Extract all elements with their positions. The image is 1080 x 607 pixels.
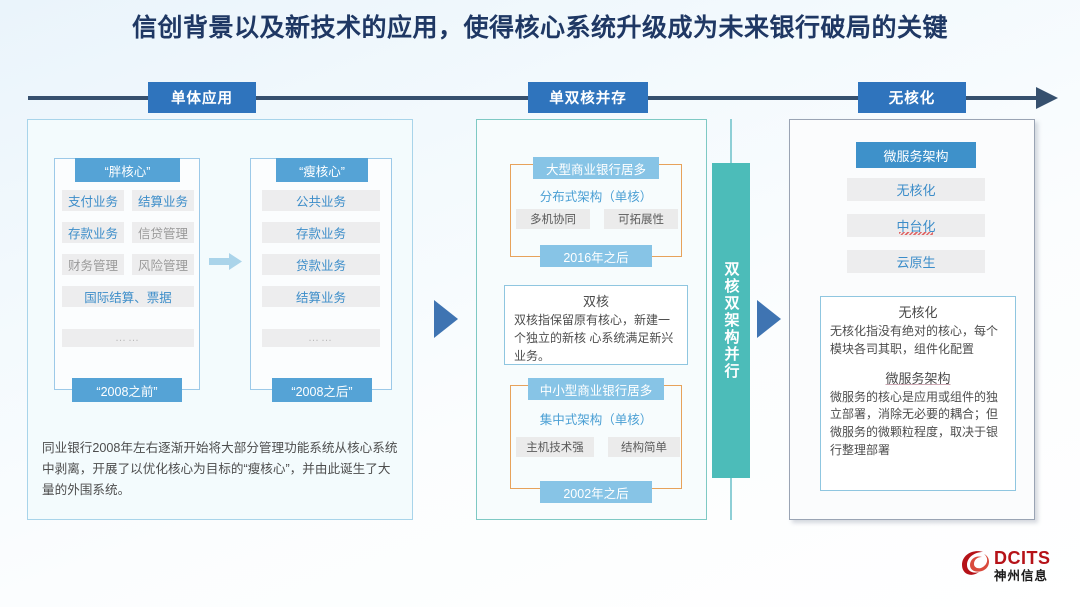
fat-core-cell: 财务管理 xyxy=(62,254,124,275)
dcits-logo-cn: 神州信息 xyxy=(994,570,1051,583)
page-title: 信创背景以及新技术的应用，使得核心系统升级成为未来银行破局的关键 xyxy=(0,8,1080,44)
small-bank-subtitle: 集中式架构（单核） xyxy=(510,409,682,428)
large-bank-header: 大型商业银行居多 xyxy=(533,157,659,179)
dual-core-description-text: 双核指保留原有核心，新建一个独立的新核 心系统满足新兴业务。 xyxy=(514,312,678,365)
coreless-description-text-2: 微服务的核心是应用或组件的独立部署，消除无必要的耦合；但微服务的微颗粒程度，取决… xyxy=(830,389,1006,460)
large-bank-subtitle: 分布式架构（单核） xyxy=(510,186,682,205)
timeline-stage-2[interactable]: 单双核并存 xyxy=(528,82,648,113)
fat-core-cell: 结算业务 xyxy=(132,190,194,211)
microservice-header-chip: 微服务架构 xyxy=(856,142,976,168)
thin-core-cell: 存款业务 xyxy=(262,222,380,243)
teal-bar-stem-top xyxy=(730,119,732,163)
small-bank-header: 中小型商业银行居多 xyxy=(528,378,664,400)
thin-core-ellipsis: …… xyxy=(262,329,380,347)
coreless-description-text-1: 无核化指没有绝对的核心，每个模块各司其职，组件化配置 xyxy=(830,323,1006,359)
thin-core-cell: 贷款业务 xyxy=(262,254,380,275)
fat-core-cell: 信贷管理 xyxy=(132,222,194,243)
panel1-to-panel2-arrow-icon xyxy=(434,300,458,338)
timeline-stage-1[interactable]: 单体应用 xyxy=(148,82,256,113)
fat-core-footer: “2008之前” xyxy=(72,378,182,402)
large-bank-footer: 2016年之后 xyxy=(540,245,652,267)
fat-core-cell: 支付业务 xyxy=(62,190,124,211)
large-bank-tag: 可拓展性 xyxy=(604,209,678,229)
transition-arrow-icon xyxy=(209,253,243,270)
fat-core-ellipsis: …… xyxy=(62,329,194,347)
description-spacer xyxy=(830,359,1006,368)
large-bank-tag: 多机协同 xyxy=(516,209,590,229)
thin-core-cell: 公共业务 xyxy=(262,190,380,211)
coreless-row: 云原生 xyxy=(847,250,985,273)
timeline: 单体应用 单双核并存 无核化 xyxy=(0,82,1080,116)
dcits-swoosh-icon xyxy=(958,548,992,578)
fat-core-cell: 风险管理 xyxy=(132,254,194,275)
dcits-logo-text: DCITS 神州信息 xyxy=(994,549,1051,583)
coreless-row: 无核化 xyxy=(847,178,985,201)
thin-core-footer: “2008之后” xyxy=(272,378,372,402)
dcits-logo: DCITS 神州信息 xyxy=(958,548,1070,594)
fat-core-header: “胖核心” xyxy=(75,158,180,182)
timeline-arrow-icon xyxy=(1036,87,1058,109)
small-bank-tag: 结构简单 xyxy=(608,437,680,457)
thin-core-header: “瘦核心” xyxy=(276,158,368,182)
coreless-row: 中台化 xyxy=(847,214,985,237)
coreless-description-title-1: 无核化 xyxy=(830,302,1006,321)
dcits-logo-en: DCITS xyxy=(994,549,1051,567)
fat-core-cell: 存款业务 xyxy=(62,222,124,243)
thin-core-cell: 结算业务 xyxy=(262,286,380,307)
coreless-description-title-2: 微服务架构 xyxy=(830,368,1006,387)
coreless-description: 无核化 无核化指没有绝对的核心，每个模块各司其职，组件化配置 微服务架构 微服务… xyxy=(820,296,1016,491)
panel2-to-panel3-arrow-icon xyxy=(757,300,781,338)
dual-core-description: 双核 双核指保留原有核心，新建一个独立的新核 心系统满足新兴业务。 xyxy=(504,285,688,365)
dual-core-dual-architecture-bar: 双核双架构并行 xyxy=(712,163,750,478)
teal-bar-stem-bottom xyxy=(730,478,732,520)
small-bank-footer: 2002年之后 xyxy=(540,481,652,503)
fat-core-cell-wide: 国际结算、票据 xyxy=(62,286,194,307)
timeline-stage-3[interactable]: 无核化 xyxy=(858,82,966,113)
small-bank-tag: 主机技术强 xyxy=(516,437,594,457)
dual-core-description-title: 双核 xyxy=(514,291,678,310)
panel1-caption: 同业银行2008年左右逐渐开始将大部分管理功能系统从核心系统中剥离，开展了以优化… xyxy=(42,438,398,500)
